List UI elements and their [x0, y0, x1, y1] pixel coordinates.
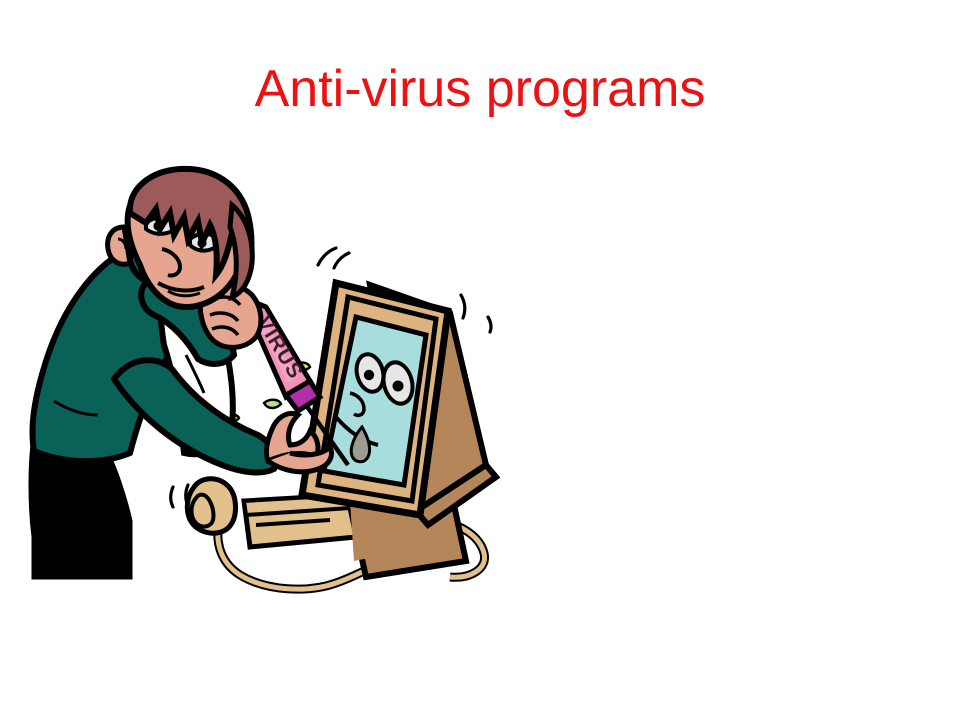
slide-canvas: Anti-virus programs — [0, 0, 960, 720]
man-injecting-virus-into-computer-graphic: VIRUS — [18, 165, 538, 595]
computer-mouse — [187, 479, 235, 533]
clipart-illustration: VIRUS — [18, 165, 538, 595]
page-title: Anti-virus programs — [0, 62, 960, 117]
